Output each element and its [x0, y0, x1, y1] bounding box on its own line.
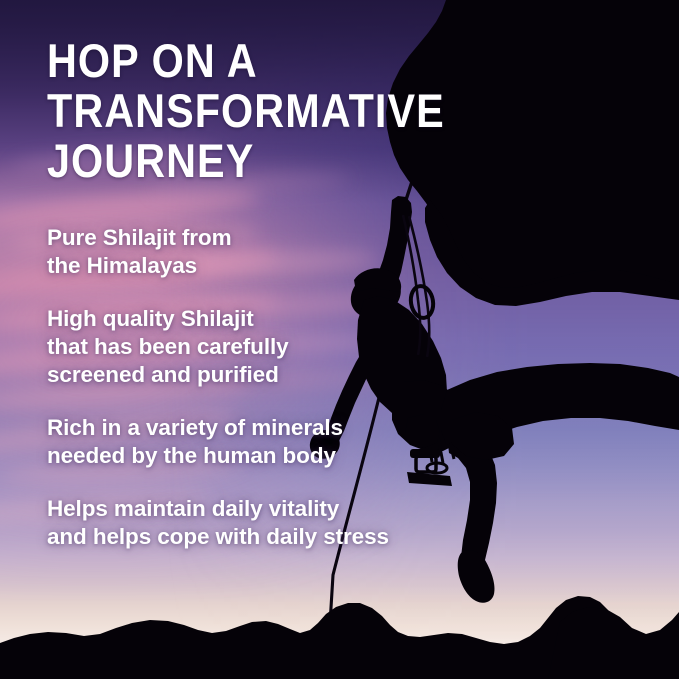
promo-banner: HOP ON A TRANSFORMATIVE JOURNEY Pure Shi…	[0, 0, 679, 679]
ridge-foreground-rocks	[548, 607, 679, 679]
page-title: HOP ON A TRANSFORMATIVE JOURNEY	[47, 0, 425, 186]
list-item: Helps maintain daily vitality and helps …	[47, 495, 477, 551]
list-item: Rich in a variety of minerals needed by …	[47, 414, 477, 470]
copy-block: HOP ON A TRANSFORMATIVE JOURNEY Pure Shi…	[47, 0, 477, 551]
list-item: Pure Shilajit from the Himalayas	[47, 224, 477, 280]
benefits-list: Pure Shilajit from the Himalayas High qu…	[47, 224, 477, 551]
climber-shoe	[458, 550, 495, 603]
list-item: High quality Shilajit that has been care…	[47, 305, 477, 389]
